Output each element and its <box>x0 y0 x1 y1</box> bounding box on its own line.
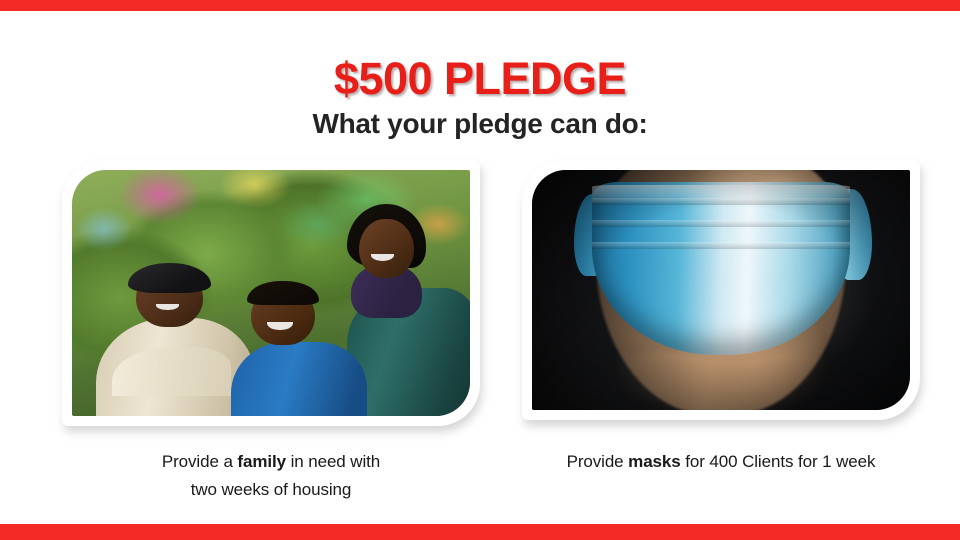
caption-text-bold: masks <box>628 452 680 471</box>
boy-hair-shape <box>247 281 319 306</box>
family-of-three-photo <box>72 170 470 416</box>
surgical-mask-photo <box>532 170 910 410</box>
page-subtitle: What your pledge can do: <box>0 108 960 140</box>
caption-masks: Provide masks for 400 Clients for 1 week <box>522 448 920 476</box>
caption-family: Provide a family in need with two weeks … <box>62 448 480 503</box>
girl-face-shape <box>359 219 415 278</box>
photo-vignette <box>532 170 910 410</box>
top-accent-bar <box>0 0 960 11</box>
pledge-card-family[interactable] <box>62 160 480 426</box>
caption-text-post: for 400 Clients for 1 week <box>681 452 876 471</box>
caption-text-post: in need with <box>286 452 380 471</box>
caption-text-pre: Provide a <box>162 452 238 471</box>
pledge-card-masks[interactable] <box>522 160 920 420</box>
caption-text-line2: two weeks of housing <box>191 480 352 499</box>
slide-canvas: $500 PLEDGE What your pledge can do: <box>0 0 960 540</box>
page-title: $500 PLEDGE <box>0 55 960 102</box>
mother-beret-shape <box>128 263 212 293</box>
boy-shirt-shape <box>231 342 366 416</box>
bottom-accent-bar <box>0 524 960 540</box>
caption-text-bold: family <box>237 452 286 471</box>
caption-text-pre: Provide <box>567 452 629 471</box>
